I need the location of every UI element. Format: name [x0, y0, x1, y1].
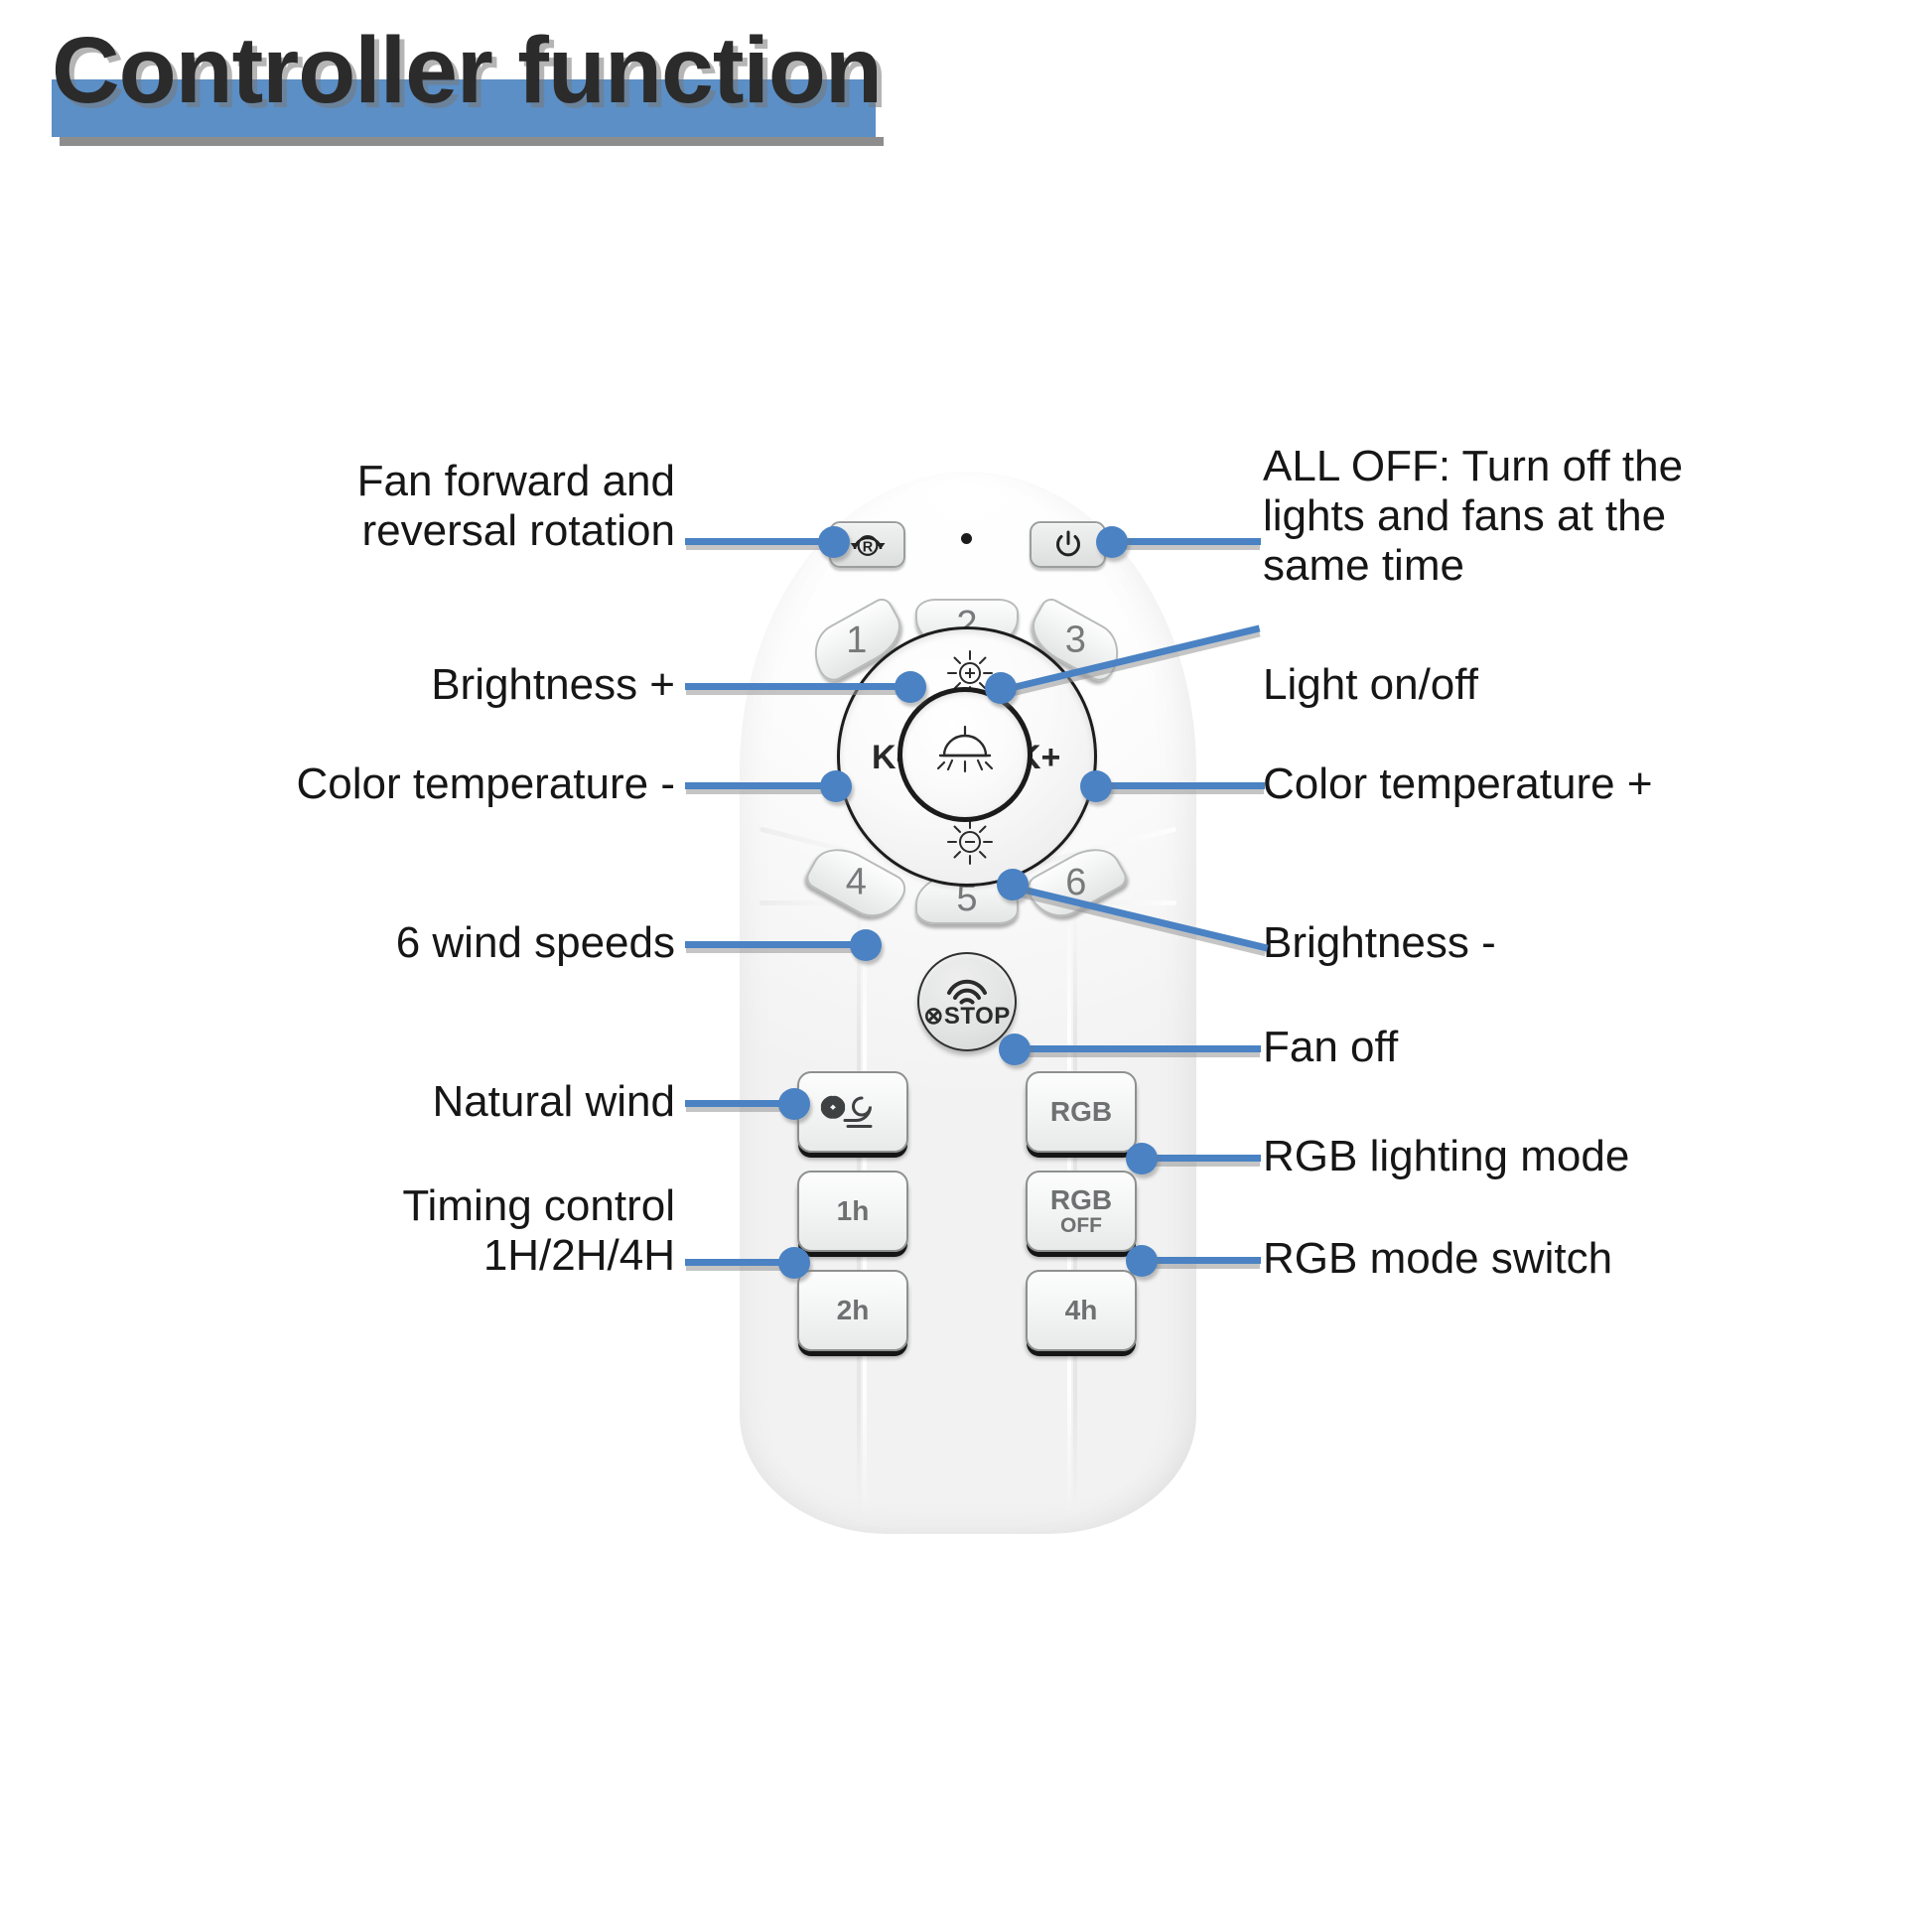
dot-rgb-mode-switch	[1126, 1245, 1158, 1277]
power-icon	[1051, 528, 1085, 562]
rgb-off-sublabel: OFF	[1060, 1215, 1102, 1237]
dot-fan-off	[999, 1034, 1031, 1065]
dot-natural-wind	[778, 1088, 810, 1120]
leader-all-off	[1112, 538, 1261, 545]
all-off-power-button[interactable]	[1030, 521, 1106, 568]
label-light-on-off: Light on/off	[1263, 660, 1819, 710]
rgb-off-label: RGB	[1050, 1185, 1112, 1214]
page-title: Controller function	[52, 22, 882, 121]
label-color-temp-up: Color temperature +	[1263, 759, 1878, 809]
fan-off-button[interactable]: ⊗STOP	[917, 952, 1017, 1051]
leader-color-temp-down	[685, 782, 834, 789]
label-natural-wind: Natural wind	[278, 1077, 675, 1127]
label-rgb-mode-switch: RGB mode switch	[1263, 1234, 1878, 1284]
stop-prefix-icon: ⊗	[923, 1003, 944, 1030]
dot-all-off	[1096, 526, 1128, 558]
fan-wave-icon	[943, 974, 991, 1004]
fan-off-label: ⊗STOP	[923, 1002, 1011, 1031]
sun-minus-icon[interactable]	[944, 816, 996, 868]
speed-button-3-label: 3	[1065, 619, 1086, 661]
label-fan-rotation: Fan forward and reversal rotation	[159, 457, 675, 556]
rgb-label: RGB	[1050, 1097, 1112, 1126]
timer-4h-label: 4h	[1065, 1296, 1098, 1324]
label-brightness-down: Brightness -	[1263, 918, 1819, 968]
dot-timing-control	[778, 1247, 810, 1279]
timer-1h-label: 1h	[837, 1196, 870, 1225]
rgb-mode-button[interactable]: RGB	[1026, 1071, 1137, 1153]
leader-fan-rotation	[685, 538, 834, 545]
leader-wind-speeds	[685, 941, 864, 948]
timer-2h-button[interactable]: 2h	[797, 1270, 908, 1351]
label-all-off: ALL OFF: Turn off the lights and fans at…	[1263, 442, 1878, 591]
dot-light-on-off	[985, 672, 1017, 704]
leader-color-temp-up	[1096, 782, 1265, 789]
light-on-off-button[interactable]	[897, 687, 1033, 822]
fan-swirl-icon	[817, 1092, 889, 1132]
leader-fan-off	[1015, 1045, 1261, 1052]
controller-function-diagram: Controller function R	[0, 0, 1932, 1932]
label-color-temp-down: Color temperature -	[109, 759, 675, 809]
label-fan-off: Fan off	[1263, 1023, 1779, 1072]
natural-wind-button[interactable]	[797, 1071, 908, 1153]
label-wind-speeds: 6 wind speeds	[218, 918, 675, 968]
svg-text:R: R	[862, 539, 873, 555]
timer-2h-label: 2h	[837, 1296, 870, 1324]
ir-led-dot	[961, 533, 972, 544]
remote-control-body: R 1 2 3 4 5	[740, 472, 1196, 1534]
reverse-r-icon: R	[847, 528, 889, 562]
speed-button-1-label: 1	[846, 620, 867, 662]
dot-color-temp-up	[1080, 770, 1112, 802]
title-highlight-shadow	[60, 137, 884, 146]
leader-brightness-up	[685, 683, 908, 690]
light-control-dial[interactable]: K- K+	[837, 626, 1097, 887]
dot-rgb-lighting-mode	[1126, 1143, 1158, 1174]
speed-button-4-label: 4	[846, 861, 867, 903]
label-brightness-up: Brightness +	[258, 660, 675, 710]
rgb-off-button[interactable]: RGB OFF	[1026, 1171, 1137, 1252]
stop-word: STOP	[944, 1003, 1011, 1030]
ceiling-lamp-icon	[930, 722, 1000, 787]
dot-wind-speeds	[850, 929, 882, 961]
leader-rgb-mode-switch	[1142, 1257, 1261, 1264]
timer-4h-button[interactable]: 4h	[1026, 1270, 1137, 1351]
label-timing-control: Timing control 1H/2H/4H	[248, 1181, 675, 1281]
label-rgb-lighting-mode: RGB lighting mode	[1263, 1132, 1878, 1181]
timer-1h-button[interactable]: 1h	[797, 1171, 908, 1252]
dot-brightness-down	[997, 869, 1029, 900]
dot-fan-rotation	[818, 526, 850, 558]
leader-rgb-lighting-mode	[1142, 1155, 1261, 1162]
dot-brightness-up	[895, 671, 926, 703]
dot-color-temp-down	[820, 770, 852, 802]
page-title-group: Controller function	[52, 22, 882, 121]
